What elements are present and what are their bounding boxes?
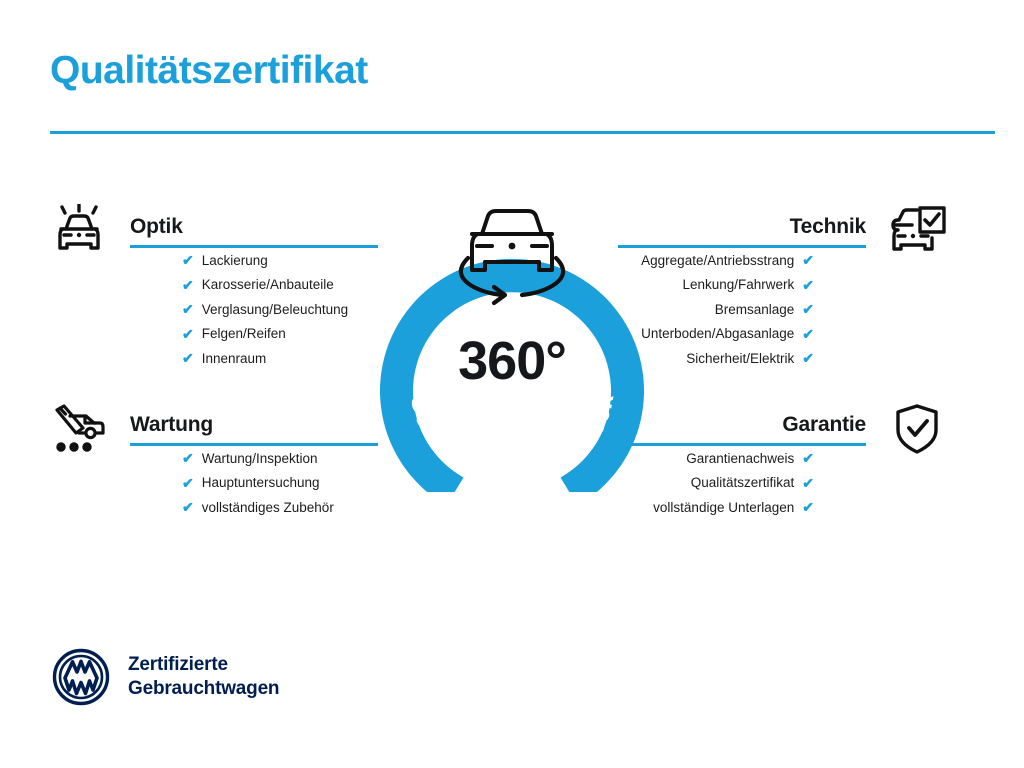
- check-icon: ✔: [182, 253, 194, 267]
- list-item: ✔Felgen/Reifen: [182, 322, 358, 347]
- section-title: Technik: [790, 215, 866, 239]
- list-item: vollständige Unterlagen✔: [638, 495, 814, 520]
- check-icon: ✔: [182, 278, 194, 292]
- list-item: Garantienachweis✔: [638, 446, 814, 471]
- check-icon: ✔: [182, 451, 194, 465]
- section-underline: [130, 245, 378, 248]
- list-item: ✔Lackierung: [182, 248, 358, 273]
- checklist-garantie: Garantienachweis✔ Qualitätszertifikat✔ v…: [638, 446, 814, 520]
- section-underline: [130, 443, 378, 446]
- check-icon: ✔: [182, 327, 194, 341]
- list-item-label: Verglasung/Beleuchtung: [202, 302, 348, 317]
- check-icon: ✔: [802, 278, 814, 292]
- check-icon: ✔: [802, 476, 814, 490]
- section-optik: Optik ✔Lackierung ✔Karosserie/Anbauteile…: [48, 202, 358, 371]
- check-icon: ✔: [802, 253, 814, 267]
- vw-brand-line-2: Gebrauchtwagen: [128, 677, 279, 701]
- section-header-garantie: Garantie: [638, 400, 948, 446]
- list-item: ✔Verglasung/Beleuchtung: [182, 297, 358, 322]
- list-item: Bremsanlage✔: [638, 297, 814, 322]
- check-icon: ✔: [182, 500, 194, 514]
- list-item-label: Lackierung: [202, 253, 268, 268]
- list-item-label: vollständiges Zubehör: [202, 500, 334, 515]
- vw-brand-text: Zertifizierte Gebrauchtwagen: [128, 653, 279, 702]
- list-item: Sicherheit/Elektrik✔: [638, 346, 814, 371]
- checklist-wartung: ✔Wartung/Inspektion ✔Hauptuntersuchung ✔…: [182, 446, 358, 520]
- vw-logo: [52, 648, 110, 706]
- list-item-label: Felgen/Reifen: [202, 326, 286, 341]
- check-icon: ✔: [802, 451, 814, 465]
- section-underline: [618, 245, 866, 248]
- list-item-label: Unterboden/Abgasanlage: [641, 326, 794, 341]
- certificate-page: Qualitätszertifikat Optik ✔Lackieru: [0, 0, 1024, 768]
- section-wartung: Wartung ✔Wartung/Inspektion ✔Hauptunters…: [48, 400, 358, 520]
- check-icon: ✔: [802, 327, 814, 341]
- checklist-optik: ✔Lackierung ✔Karosserie/Anbauteile ✔Verg…: [182, 248, 358, 371]
- section-garantie: Garantie Garantienachweis✔ Qualitätszert…: [638, 400, 948, 520]
- list-item: Lenkung/Fahrwerk✔: [638, 273, 814, 298]
- section-header-wartung: Wartung: [48, 400, 358, 446]
- list-item: ✔Wartung/Inspektion: [182, 446, 358, 471]
- list-item-label: Lenkung/Fahrwerk: [682, 277, 794, 292]
- list-item: ✔Hauptuntersuchung: [182, 471, 358, 496]
- checklist-technik: Aggregate/Antriebsstrang✔ Lenkung/Fahrwe…: [638, 248, 814, 371]
- list-item-label: Sicherheit/Elektrik: [686, 351, 794, 366]
- list-item-label: vollständige Unterlagen: [653, 500, 794, 515]
- vw-brand-line-1: Zertifizierte: [128, 653, 279, 677]
- check-icon: ✔: [182, 351, 194, 365]
- section-title: Garantie: [782, 413, 866, 437]
- page-title: Qualitätszertifikat: [50, 50, 368, 93]
- check-icon: ✔: [802, 351, 814, 365]
- list-item-label: Garantienachweis: [686, 451, 794, 466]
- list-item-label: Aggregate/Antriebsstrang: [641, 253, 794, 268]
- section-title: Wartung: [130, 413, 213, 437]
- 360-check-badge: Gebrauchtwagen-Check 360°: [372, 196, 652, 492]
- section-header-technik: Technik: [638, 202, 948, 248]
- list-item-label: Bremsanlage: [715, 302, 795, 317]
- section-underline: [618, 443, 866, 446]
- list-item-label: Hauptuntersuchung: [202, 475, 320, 490]
- check-icon: ✔: [802, 302, 814, 316]
- list-item: ✔vollständiges Zubehör: [182, 495, 358, 520]
- check-icon: ✔: [802, 500, 814, 514]
- list-item: Unterboden/Abgasanlage✔: [638, 322, 814, 347]
- section-technik: Technik Aggregate/Antriebsstrang✔ Lenkun…: [638, 202, 948, 371]
- check-icon: ✔: [182, 476, 194, 490]
- list-item-label: Wartung/Inspektion: [202, 451, 318, 466]
- check-icon: ✔: [182, 302, 194, 316]
- list-item: Qualitätszertifikat✔: [638, 471, 814, 496]
- title-divider: [50, 131, 995, 134]
- list-item-label: Qualitätszertifikat: [691, 475, 795, 490]
- list-item-label: Karosserie/Anbauteile: [202, 277, 334, 292]
- section-header-optik: Optik: [48, 202, 358, 248]
- list-item: ✔Karosserie/Anbauteile: [182, 273, 358, 298]
- section-title: Optik: [130, 215, 183, 239]
- badge-center-label: 360°: [372, 330, 652, 392]
- list-item: ✔Innenraum: [182, 346, 358, 371]
- list-item: Aggregate/Antriebsstrang✔: [638, 248, 814, 273]
- vw-brand-lockup: Zertifizierte Gebrauchtwagen: [52, 648, 279, 706]
- list-item-label: Innenraum: [202, 351, 267, 366]
